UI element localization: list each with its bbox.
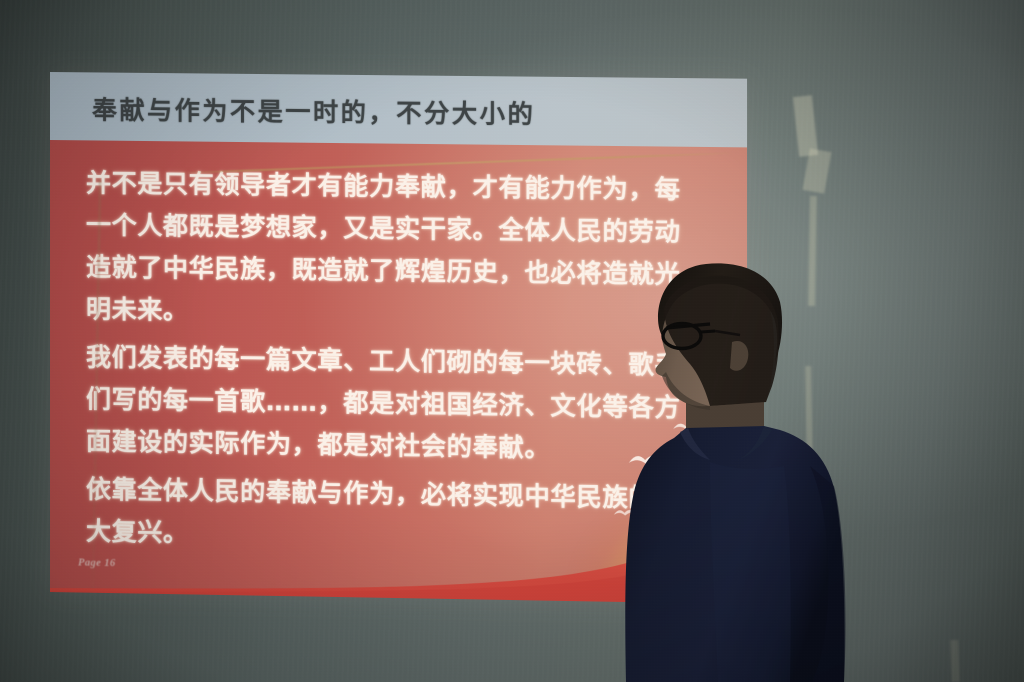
slide-paragraph: 并不是只有领导者才有能力奉献，才有能力作为，每一个人都既是梦想家，又是实干家。全…	[86, 162, 702, 338]
slide-text-block: 并不是只有领导者才有能力奉献，才有能力作为，每一个人都既是梦想家，又是实干家。全…	[86, 162, 702, 569]
slide-paragraph: 依靠全体人民的奉献与作为，必将实现中华民族的伟大复兴。	[86, 469, 702, 563]
presenter-silhouette	[614, 252, 854, 682]
slide-title-band: 奉献与作为不是一时的，不分大小的	[50, 72, 747, 147]
presenter-figure	[614, 252, 854, 682]
slide-paragraph: 我们发表的每一篇文章、工人们砌的每一块砖、歌手们写的每一首歌……，都是对祖国经济…	[86, 336, 702, 472]
photo-scene: 奉献与作为不是一时的，不分大小的	[0, 0, 1024, 682]
tape-residue-mark	[950, 640, 959, 682]
slide-title: 奉献与作为不是一时的，不分大小的	[92, 90, 535, 131]
slide-page-number: Page 16	[78, 557, 116, 569]
fabric-highlight	[710, 462, 791, 682]
